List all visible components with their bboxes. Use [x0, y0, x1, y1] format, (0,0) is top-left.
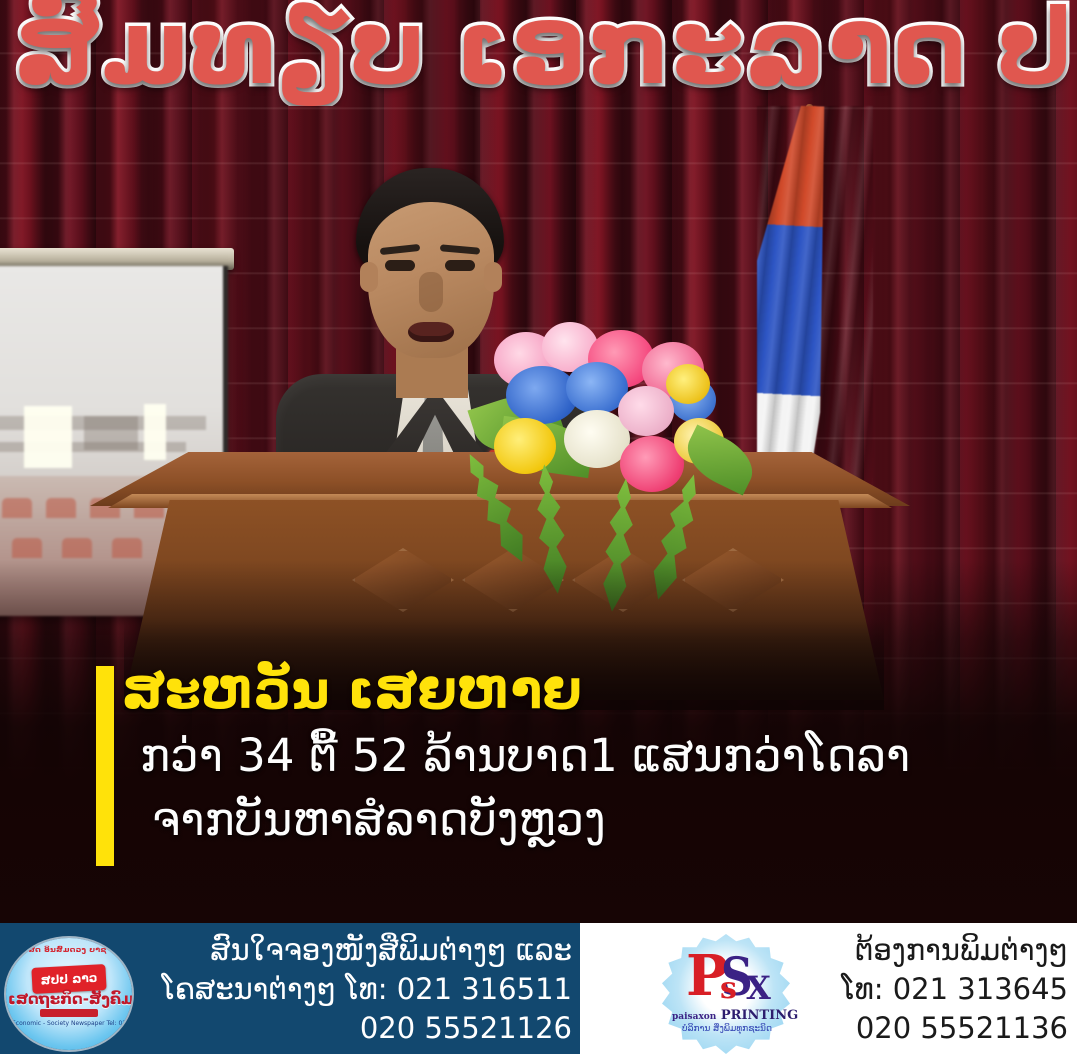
news-poster: ສົມທຽບເອກະລາດປ ສະຫວັນ ເສຍຫາຍ ກວ່າ 34 ຕື້…	[0, 0, 1077, 1054]
yellow-accent-bar	[96, 666, 114, 866]
photo-region: ສົມທຽບເອກະລາດປ ສະຫວັນ ເສຍຫາຍ ກວ່າ 34 ຕື້…	[0, 0, 1077, 923]
psx-printing-logo[interactable]: P S s X paisaxon PRINTING ບໍລິການ ສິ່ງພິ…	[662, 934, 790, 1054]
footer-left-line-1: ສົນໃຈຈອງໜັງສືພິມຕ່າງໆ ແລະ	[132, 931, 572, 970]
psx-brand-printing: PRINTING	[721, 1008, 798, 1023]
eye-right	[445, 260, 475, 271]
headline-line-2: ກວ່າ 34 ຕື້ 52 ລ້ານບາດ1 ແສນກວ່າໂດລາ	[122, 724, 1022, 788]
mouth	[408, 322, 454, 342]
footer-left-line-3: 020 55521126	[132, 1009, 572, 1048]
psx-letter-s-small: s	[720, 974, 737, 1004]
headline-block: ສະຫວັນ ເສຍຫາຍ ກວ່າ 34 ຕື້ 52 ລ້ານບາດ1 ແສ…	[122, 658, 1022, 852]
logo-main-text: ເສດຖະກິດ-ສັງຄົມ	[8, 990, 130, 1008]
ear-right	[484, 262, 502, 292]
psx-letter-x: X	[746, 972, 771, 1004]
footer-right-text-wrap: ຕ້ອງການພິມຕ່າງໆ ໂທ: 021 313645 020 55521…	[580, 923, 1077, 1054]
psx-slogan: ບໍລິການ ສິ່ງພິມທຸກຊະນິດ	[668, 1024, 786, 1034]
headline-line-3: ຈາກບັນຫາສໍລາດບັງຫຼວງ	[122, 788, 1022, 852]
headline-line-1: ສະຫວັນ ເສຍຫາຍ	[122, 658, 1022, 724]
economy-newspaper-logo[interactable]: ບໍລິສັດ ອິນສົມດວງ ບາຊ ໂຄສະນາ - ປະຊາສຳພັນ…	[6, 938, 132, 1050]
eye-left	[385, 260, 415, 271]
banner-part-1: ສົມທຽບ	[0, 0, 441, 106]
banner-part-3: ປ	[983, 0, 1077, 106]
footer-left-text: ສົນໃຈຈອງໜັງສືພິມຕ່າງໆ ແລະ ໂຄສະນາຕ່າງໆ ໂທ…	[132, 931, 572, 1048]
ear-left	[360, 262, 378, 292]
footer-left-line-2: ໂຄສະນາຕ່າງໆ ໂທ: 021 316511	[132, 970, 572, 1009]
banner-part-2: ເອກະລາດ	[441, 0, 982, 106]
logo-sub-box	[40, 1009, 98, 1017]
psx-brand-lowercase: paisaxon	[672, 1012, 716, 1022]
psx-brand-text: paisaxon PRINTING	[672, 1008, 782, 1023]
footer-bar: ສົນໃຈຈອງໜັງສືພິມຕ່າງໆ ແລະ ໂຄສະນາຕ່າງໆ ໂທ…	[0, 923, 1077, 1054]
event-banner-text: ສົມທຽບເອກະລາດປ	[0, 0, 1077, 106]
logo-arc-bottom-text: Economic - Society Newspaper Tel: 021 31…	[12, 1020, 126, 1028]
nose	[419, 272, 443, 312]
